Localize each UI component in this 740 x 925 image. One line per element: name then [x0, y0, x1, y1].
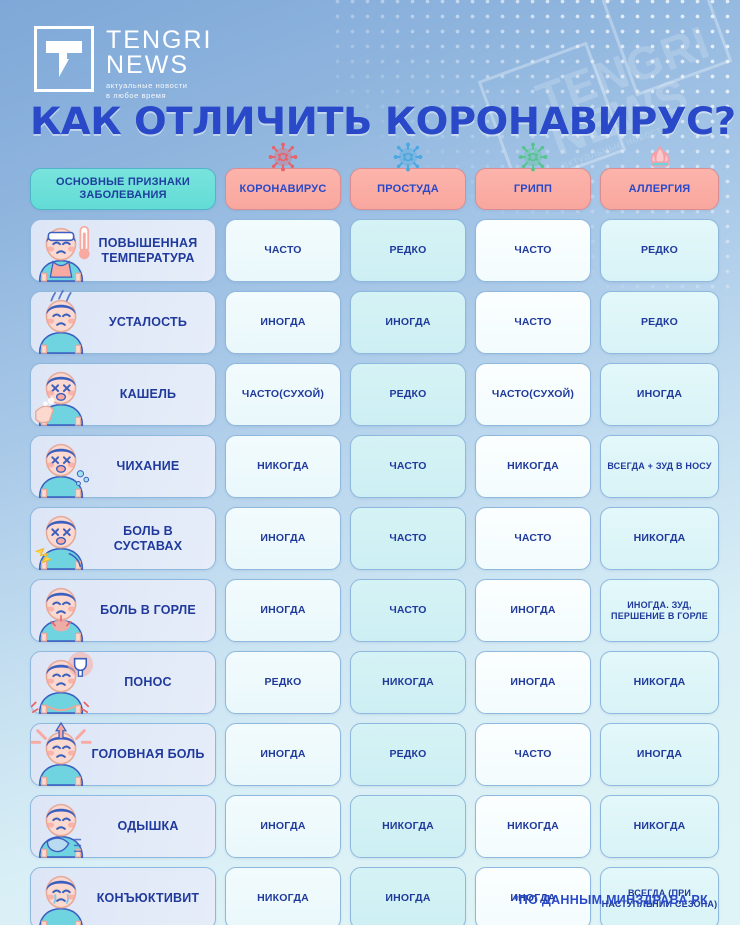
symptom-cell[interactable]: БОЛЬ В ГОРЛЕ	[30, 579, 216, 642]
value-text: ИНОГДА	[637, 388, 682, 401]
symptom-label: УСТАЛОСТЬ	[109, 315, 187, 329]
column-header-label: ГРИПП	[514, 183, 552, 196]
value-text: НИКОГДА	[507, 820, 559, 833]
column-header-label: КОРОНАВИРУС	[240, 183, 327, 196]
value-text: ЧАСТО	[389, 532, 426, 545]
person-headache-icon	[29, 721, 93, 787]
watermark-box-1	[602, 0, 733, 96]
symptom-cell[interactable]: ОДЫШКА	[30, 795, 216, 858]
value-text: ИНОГДА	[260, 532, 305, 545]
value-text: ЧАСТО	[514, 532, 551, 545]
value-cell[interactable]: НИКОГДА	[350, 795, 466, 858]
column-header-1[interactable]: КОРОНАВИРУС	[225, 168, 341, 210]
table-row: ОДЫШКАИНОГДАНИКОГДАНИКОГДАНИКОГДА	[30, 795, 710, 858]
value-cell[interactable]: РЕДКО	[350, 723, 466, 786]
pollen-flower-icon	[645, 142, 675, 172]
value-text: ЧАСТО	[514, 244, 551, 257]
value-text: ИНОГДА	[260, 748, 305, 761]
value-text: РЕДКО	[389, 244, 426, 257]
symptom-label: ПОВЫШЕННАЯ ТЕМПЕРАТУРА	[89, 236, 207, 264]
value-text: НИКОГДА	[382, 820, 434, 833]
value-text: ИНОГДА	[260, 604, 305, 617]
table-row: ПОНОСРЕДКОНИКОГДАИНОГДАНИКОГДА	[30, 651, 710, 714]
symptom-cell[interactable]: КОНЪЮКТИВИТ	[30, 867, 216, 925]
value-cell[interactable]: ЧАСТО(СУХОЙ)	[475, 363, 591, 426]
person-sore-throat-icon	[29, 577, 93, 643]
value-text: РЕДКО	[264, 676, 301, 689]
value-text: РЕДКО	[389, 388, 426, 401]
column-header-label: ОСНОВНЫЕ ПРИЗНАКИ ЗАБОЛЕВАНИЯ	[31, 176, 215, 201]
value-text: ЧАСТО	[514, 316, 551, 329]
value-cell[interactable]: РЕДКО	[225, 651, 341, 714]
value-cell[interactable]: ИНОГДА	[225, 507, 341, 570]
symptom-cell[interactable]: ПОВЫШЕННАЯ ТЕМПЕРАТУРА	[30, 219, 216, 282]
value-text: ИНОГДА	[510, 676, 555, 689]
value-cell[interactable]: ЧАСТО	[350, 435, 466, 498]
tengri-logo-mark-icon	[34, 26, 94, 92]
table-row: ГОЛОВНАЯ БОЛЬИНОГДАРЕДКОЧАСТОИНОГДА	[30, 723, 710, 786]
value-cell[interactable]: ИНОГДА	[225, 291, 341, 354]
person-sneeze-icon	[29, 433, 93, 499]
symptom-label: БОЛЬ В ГОРЛЕ	[100, 603, 196, 617]
value-text: РЕДКО	[641, 244, 678, 257]
symptom-label: БОЛЬ В СУСТАВАХ	[89, 524, 207, 552]
value-cell[interactable]: РЕДКО	[350, 363, 466, 426]
value-cell[interactable]: ИНОГДА	[475, 651, 591, 714]
value-cell[interactable]: ИНОГДА	[350, 867, 466, 925]
value-cell[interactable]: ВСЕГДА + ЗУД В НОСУ	[600, 435, 719, 498]
value-cell[interactable]: ЧАСТО	[225, 219, 341, 282]
value-cell[interactable]: ИНОГДА	[225, 795, 341, 858]
value-cell[interactable]: РЕДКО	[350, 219, 466, 282]
value-text: ЧАСТО(СУХОЙ)	[492, 388, 574, 401]
symptom-label: ПОНОС	[124, 675, 171, 689]
table-row: ПОВЫШЕННАЯ ТЕМПЕРАТУРАЧАСТОРЕДКОЧАСТОРЕД…	[30, 219, 710, 282]
symptom-label: ГОЛОВНАЯ БОЛЬ	[91, 747, 204, 761]
value-text: НИКОГДА	[257, 460, 309, 473]
value-cell[interactable]: ИНОГДА	[225, 723, 341, 786]
value-text: ВСЕГДА + ЗУД В НОСУ	[607, 461, 711, 472]
value-cell[interactable]: НИКОГДА	[600, 651, 719, 714]
value-text: НИКОГДА	[634, 820, 686, 833]
source-footnote: *ПО ДАННЫМ МИНЗДРАВА РК	[514, 893, 708, 907]
watermark-logo: TENGRI NEWS актуальные новости	[531, 20, 732, 171]
value-cell[interactable]: РЕДКО	[600, 219, 719, 282]
value-cell[interactable]: НИКОГДА	[600, 795, 719, 858]
value-text: НИКОГДА	[382, 676, 434, 689]
value-text: ЧАСТО	[389, 604, 426, 617]
logo-line-1: TENGRI	[106, 28, 212, 53]
value-text: РЕДКО	[389, 748, 426, 761]
person-joint-pain-icon	[29, 505, 93, 571]
logo-line-2: NEWS	[106, 53, 212, 78]
comparison-table: ОСНОВНЫЕ ПРИЗНАКИ ЗАБОЛЕВАНИЯКОРОНАВИРУС…	[30, 168, 710, 925]
virus-icon-blue	[393, 142, 423, 172]
value-cell[interactable]: ИНОГДА	[600, 723, 719, 786]
virus-icon-green	[518, 142, 548, 172]
column-header-4[interactable]: АЛЛЕРГИЯ	[600, 168, 719, 210]
value-text: ИНОГДА	[510, 604, 555, 617]
person-conjunctivitis-icon	[29, 865, 93, 925]
value-text: ЧАСТО	[514, 748, 551, 761]
value-text: ИНОГДА	[260, 316, 305, 329]
column-header-symptoms[interactable]: ОСНОВНЫЕ ПРИЗНАКИ ЗАБОЛЕВАНИЯ	[30, 168, 216, 210]
value-cell[interactable]: РЕДКО	[600, 291, 719, 354]
symptom-cell[interactable]: ЧИХАНИЕ	[30, 435, 216, 498]
symptom-label: КАШЕЛЬ	[120, 387, 177, 401]
person-fever-icon	[29, 217, 93, 283]
tengri-news-logo: TENGRI NEWS актуальные новости в любое в…	[34, 26, 212, 101]
symptom-cell[interactable]: УСТАЛОСТЬ	[30, 291, 216, 354]
value-cell[interactable]: ЧАСТО(СУХОЙ)	[225, 363, 341, 426]
value-cell[interactable]: ИНОГДА	[350, 291, 466, 354]
table-row: ЧИХАНИЕНИКОГДАЧАСТОНИКОГДАВСЕГДА + ЗУД В…	[30, 435, 710, 498]
symptom-label: КОНЪЮКТИВИТ	[97, 891, 200, 905]
logo-tagline: актуальные новости в любое время	[106, 81, 212, 101]
value-text: ИНОГДА	[385, 892, 430, 905]
value-cell[interactable]: НИКОГДА	[350, 651, 466, 714]
symptom-cell[interactable]: ГОЛОВНАЯ БОЛЬ	[30, 723, 216, 786]
value-cell[interactable]: НИКОГДА	[600, 507, 719, 570]
column-header-label: ПРОСТУДА	[377, 183, 439, 196]
value-cell[interactable]: ЧАСТО	[350, 507, 466, 570]
virus-icon-red	[268, 142, 298, 172]
value-text: ЧАСТО	[389, 460, 426, 473]
logo-tagline-line-1: актуальные новости	[106, 81, 212, 91]
value-text: НИКОГДА	[634, 676, 686, 689]
value-cell[interactable]: ЧАСТО	[475, 291, 591, 354]
column-header-label: АЛЛЕРГИЯ	[629, 183, 691, 196]
value-cell[interactable]: ЧАСТО	[475, 219, 591, 282]
value-text: ЧАСТО(СУХОЙ)	[242, 388, 324, 401]
column-header-2[interactable]: ПРОСТУДА	[350, 168, 466, 210]
symptom-cell[interactable]: ПОНОС	[30, 651, 216, 714]
table-header-row: ОСНОВНЫЕ ПРИЗНАКИ ЗАБОЛЕВАНИЯКОРОНАВИРУС…	[30, 168, 710, 210]
person-fatigue-icon	[29, 289, 93, 355]
value-text: ИНОГДА	[637, 748, 682, 761]
value-cell[interactable]: ИНОГДА. ЗУД, ПЕРШЕНИЕ В ГОРЛЕ	[600, 579, 719, 642]
value-text: НИКОГДА	[634, 532, 686, 545]
value-text: ЧАСТО	[264, 244, 301, 257]
column-header-3[interactable]: ГРИПП	[475, 168, 591, 210]
value-cell[interactable]: НИКОГДА	[475, 795, 591, 858]
table-row: БОЛЬ В СУСТАВАХИНОГДАЧАСТОЧАСТОНИКОГДА	[30, 507, 710, 570]
person-shortness-of-breath-icon	[29, 793, 93, 859]
symptom-cell[interactable]: БОЛЬ В СУСТАВАХ	[30, 507, 216, 570]
page-title: КАК ОТЛИЧИТЬ КОРОНАВИРУС?	[30, 100, 736, 143]
infographic-page: TENGRI NEWS актуальные новости TENGRI NE…	[0, 0, 740, 925]
value-cell[interactable]: ЧАСТО	[475, 507, 591, 570]
value-text: ИНОГДА. ЗУД, ПЕРШЕНИЕ В ГОРЛЕ	[601, 600, 718, 622]
table-row: БОЛЬ В ГОРЛЕИНОГДАЧАСТОИНОГДАИНОГДА. ЗУД…	[30, 579, 710, 642]
value-text: ИНОГДА	[385, 316, 430, 329]
symptom-label: ОДЫШКА	[117, 819, 178, 833]
value-cell[interactable]: ИНОГДА	[600, 363, 719, 426]
value-text: НИКОГДА	[507, 460, 559, 473]
value-cell[interactable]: ИНОГДА	[475, 579, 591, 642]
value-text: НИКОГДА	[257, 892, 309, 905]
value-cell[interactable]: НИКОГДА	[225, 435, 341, 498]
table-row: КАШЕЛЬЧАСТО(СУХОЙ)РЕДКОЧАСТО(СУХОЙ)ИНОГД…	[30, 363, 710, 426]
value-cell[interactable]: ЧАСТО	[350, 579, 466, 642]
symptom-label: ЧИХАНИЕ	[117, 459, 180, 473]
value-cell[interactable]: ИНОГДА	[225, 579, 341, 642]
person-diarrhea-icon	[29, 649, 93, 715]
logo-wordmark: TENGRI NEWS актуальные новости в любое в…	[106, 26, 212, 101]
value-text: РЕДКО	[641, 316, 678, 329]
value-cell[interactable]: НИКОГДА	[225, 867, 341, 925]
value-text: ИНОГДА	[260, 820, 305, 833]
symptom-cell[interactable]: КАШЕЛЬ	[30, 363, 216, 426]
value-cell[interactable]: ЧАСТО	[475, 723, 591, 786]
value-cell[interactable]: НИКОГДА	[475, 435, 591, 498]
table-row: УСТАЛОСТЬИНОГДАИНОГДАЧАСТОРЕДКО	[30, 291, 710, 354]
person-cough-icon	[29, 361, 93, 427]
